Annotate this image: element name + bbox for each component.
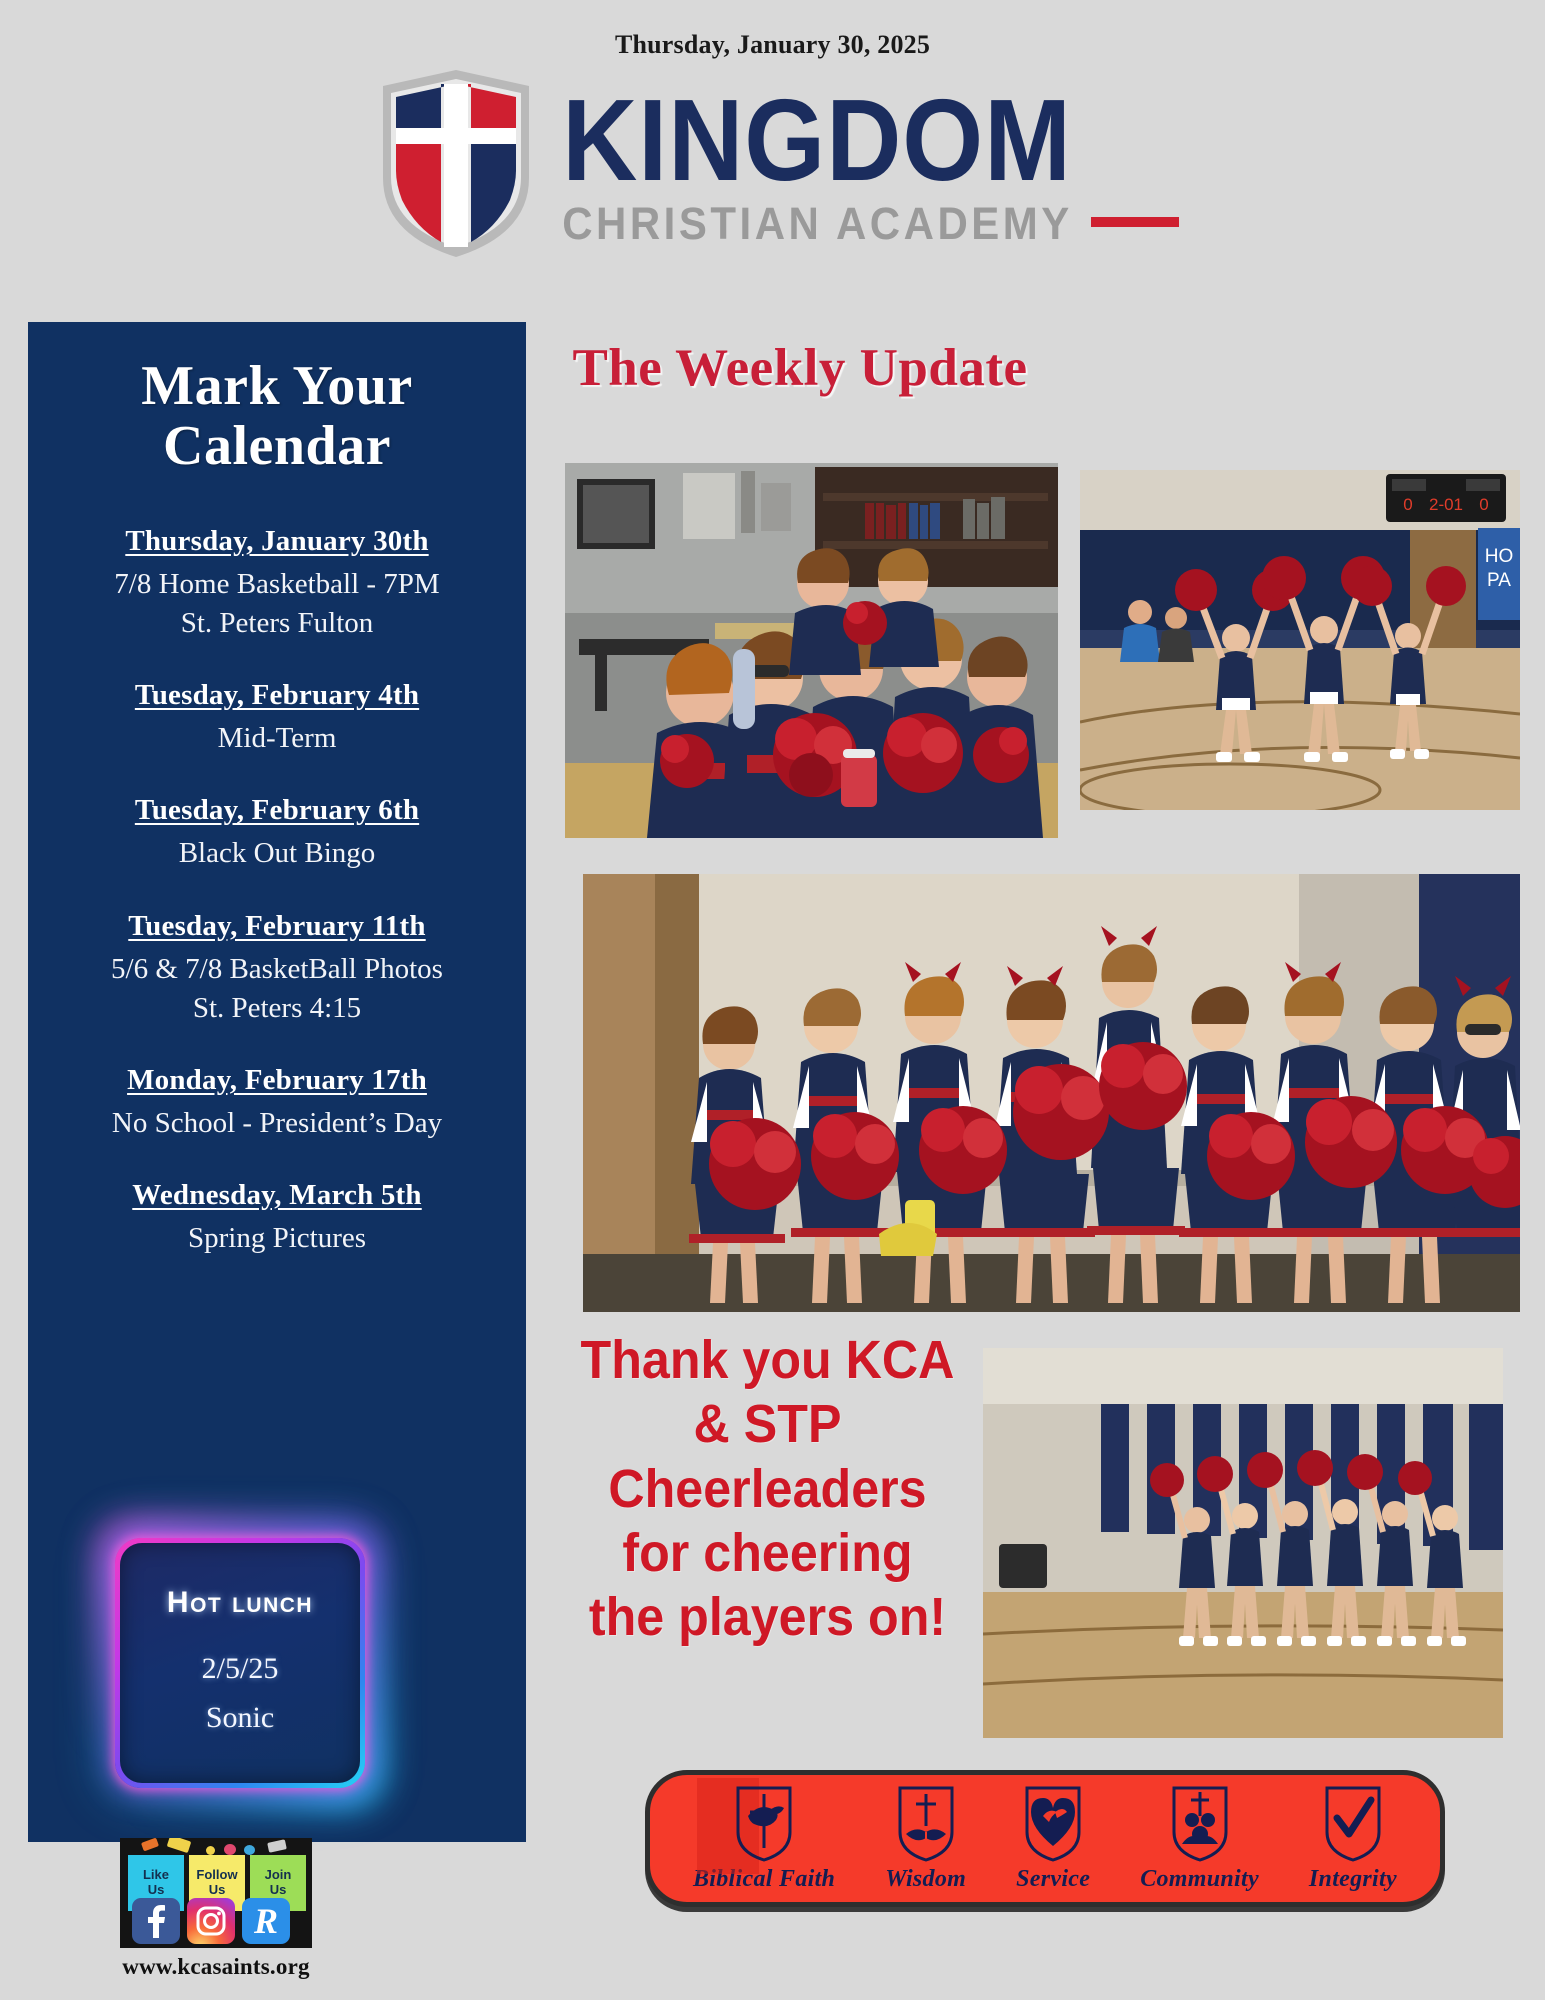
gym-floor-scene: 0 2-01 0 HO PA [1080,470,1520,810]
confetti-piece [224,1844,236,1855]
note-line-2: Us [209,1883,226,1898]
core-values-banner: Biblical Faith Wisdom Service [645,1770,1445,1907]
classroom-scene [565,463,1058,838]
list-item: Monday, February 17th No School - Presid… [46,1064,508,1143]
instagram-icon[interactable] [187,1898,235,1944]
kingdom-shield-cross-icon [376,66,536,261]
open-book-cross-shield-icon [896,1782,956,1864]
event-date: Monday, February 17th [127,1064,427,1097]
confetti-piece [141,1838,159,1851]
event-date: Tuesday, February 6th [135,794,419,827]
value-label: Service [1016,1866,1090,1893]
thank-you-message: Thank you KCA & STP Cheerleaders for che… [579,1328,956,1649]
svg-text:PA: PA [1487,570,1511,591]
value-wisdom: Wisdom [885,1782,966,1893]
event-date: Tuesday, February 4th [135,679,419,712]
photo-cheer-squad-classroom [565,463,1058,838]
scoreboard-icon: 0 2-01 0 [1386,474,1506,522]
list-item: Tuesday, February 4th Mid-Term [46,679,508,758]
gym-wall-scene [983,1348,1503,1738]
svg-text:0: 0 [1403,495,1412,514]
event-detail: Spring Pictures [46,1219,508,1258]
value-integrity: Integrity [1309,1782,1397,1893]
neon-frame: Hot lunch 2/5/25 Sonic [115,1538,365,1788]
newsletter-header: Thursday, January 30, 2025 KINGDOM CHRIS… [0,0,1545,261]
paperclip-icon [267,1839,287,1853]
school-logo: KINGDOM CHRISTIAN ACADEMY [0,66,1545,261]
event-date: Tuesday, February 11th [128,910,425,943]
event-detail: 7/8 Home Basketball - 7PM [46,565,508,604]
heart-hands-shield-icon [1023,1782,1083,1864]
svg-text:HO: HO [1485,546,1514,567]
event-detail: Black Out Bingo [46,834,508,873]
social-card: Like Us Follow Us Join Us [120,1838,312,1948]
website-url[interactable]: www.kcasaints.org [120,1954,312,1980]
remind-icon[interactable]: R [242,1898,290,1944]
note-line-2: Us [148,1883,165,1898]
event-detail: St. Peters 4:15 [46,989,508,1028]
social-media-block: Like Us Follow Us Join Us [120,1838,312,1980]
remind-glyph: R [254,1900,278,1942]
note-line-1: Follow [196,1868,237,1883]
event-date: Wednesday, March 5th [132,1179,421,1212]
neon-inner: Hot lunch 2/5/25 Sonic [120,1543,360,1783]
logo-accent-dash [1091,217,1179,227]
hot-lunch-date: 2/5/25 [202,1646,279,1691]
event-detail: No School - President’s Day [46,1104,508,1143]
value-community: Community [1140,1782,1259,1893]
hot-lunch-vendor: Sonic [206,1695,274,1740]
checkmark-shield-icon [1323,1782,1383,1864]
photo-cheer-gym-wall [983,1348,1503,1738]
event-detail: 5/6 & 7/8 BasketBall Photos [46,950,508,989]
team-lineup-scene [583,874,1520,1312]
hot-lunch-neon-box: Hot lunch 2/5/25 Sonic [95,1518,385,1808]
note-line-1: Like [143,1868,169,1883]
confetti-piece [167,1838,192,1853]
list-item: Tuesday, February 6th Black Out Bingo [46,794,508,873]
list-item: Tuesday, February 11th 5/6 & 7/8 BasketB… [46,910,508,1028]
page-title: The Weekly Update [572,338,1027,398]
value-service: Service [1016,1782,1090,1893]
issue-date: Thursday, January 30, 2025 [0,30,1545,60]
event-detail: Mid-Term [46,719,508,758]
people-cross-shield-icon [1170,1782,1230,1864]
logo-wordmark: KINGDOM [562,86,1179,198]
sidebar-title: Mark Your Calendar [46,356,508,477]
svg-text:2-01: 2-01 [1429,495,1463,514]
confetti-piece [244,1845,255,1855]
facebook-icon[interactable] [132,1898,180,1944]
dove-cross-shield-icon [734,1782,794,1864]
value-label: Community [1140,1866,1259,1893]
calendar-events-list: Thursday, January 30th 7/8 Home Basketba… [46,525,508,1258]
photo-cheer-gym-floor: 0 2-01 0 HO PA [1080,470,1520,810]
note-line-2: Us [270,1883,287,1898]
list-item: Wednesday, March 5th Spring Pictures [46,1179,508,1258]
svg-text:0: 0 [1479,495,1488,514]
photo-cheer-team-lineup [583,874,1520,1312]
list-item: Thursday, January 30th 7/8 Home Basketba… [46,525,508,643]
hot-lunch-title: Hot lunch [167,1586,313,1620]
logo-subtitle: CHRISTIAN ACADEMY [562,202,1073,247]
social-icons-row: R [132,1898,290,1944]
value-biblical-faith: Biblical Faith [693,1782,835,1893]
event-detail: St. Peters Fulton [46,604,508,643]
confetti-piece [206,1846,215,1855]
value-label: Integrity [1309,1866,1397,1893]
value-label: Wisdom [885,1866,966,1893]
event-date: Thursday, January 30th [125,525,428,558]
note-line-1: Join [265,1868,292,1883]
